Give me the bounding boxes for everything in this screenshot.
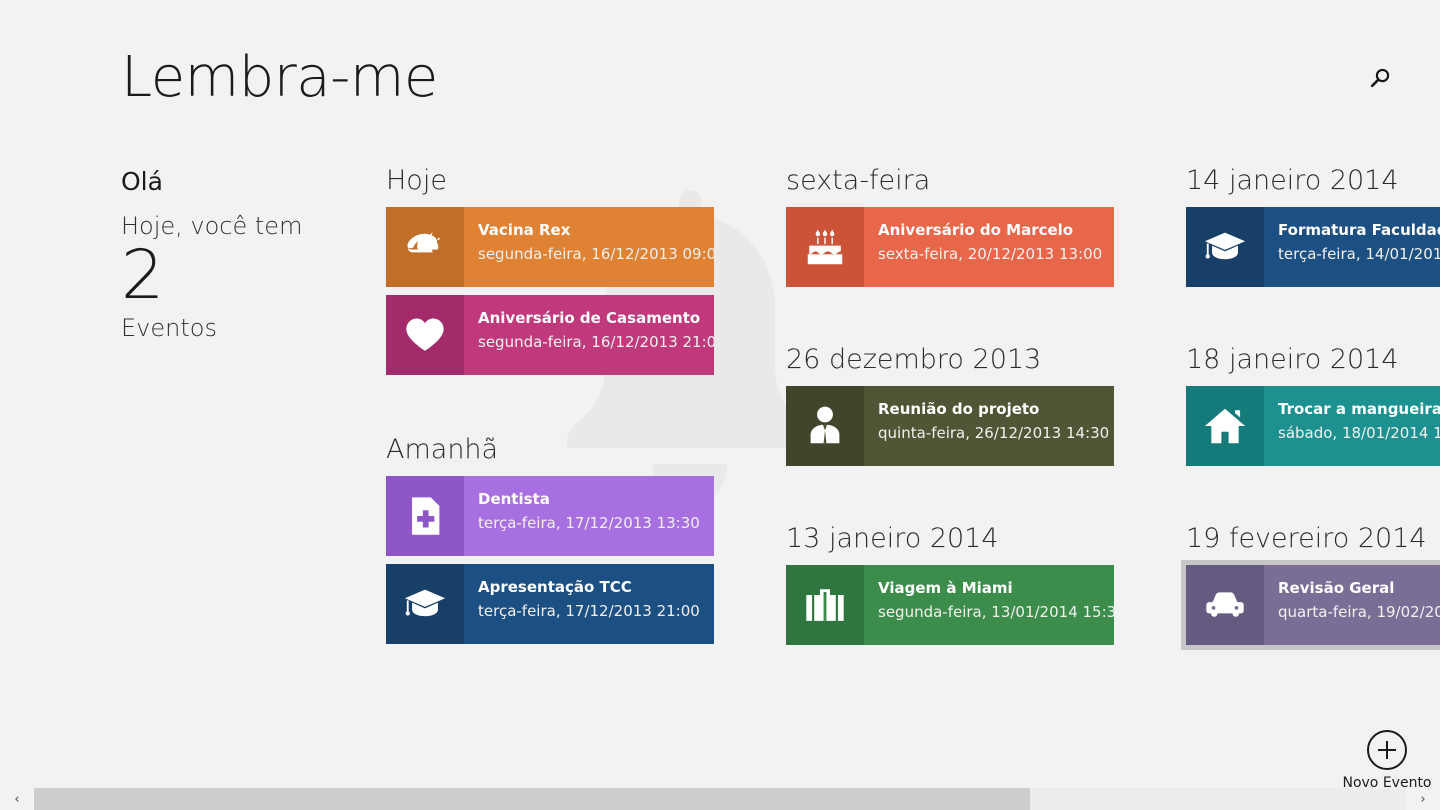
event-count: 2 <box>121 244 361 309</box>
event-tile[interactable]: Aniversário de Casamentosegunda-feira, 1… <box>386 295 714 375</box>
event-title: Dentista <box>478 489 714 509</box>
scrollbar-track[interactable] <box>34 788 1406 810</box>
search-icon[interactable] <box>1360 58 1400 98</box>
event-datetime: terça-feira, 17/12/2013 21:00 <box>478 601 714 621</box>
house-icon <box>1186 386 1264 466</box>
event-datetime: terça-feira, 17/12/2013 13:30 <box>478 513 714 533</box>
app-root: Lembra-me Olá Hoje, você tem 2 Eventos H… <box>0 0 1440 810</box>
event-tile[interactable]: Viagem à Miamisegunda-feira, 13/01/2014 … <box>786 565 1114 645</box>
event-title: Vacina Rex <box>478 220 714 240</box>
app-header: Lembra-me <box>0 0 1440 150</box>
event-title: Trocar a mangueira do gás <box>1278 399 1440 419</box>
event-tile[interactable]: Vacina Rexsegunda-feira, 16/12/2013 09:0… <box>386 207 714 287</box>
event-group: 14 janeiro 2014Formatura Faculdadeterça-… <box>1186 166 1440 295</box>
event-tile-body: Reunião do projetoquinta-feira, 26/12/20… <box>864 386 1114 466</box>
event-group: AmanhãDentistaterça-feira, 17/12/2013 13… <box>386 435 716 652</box>
event-tile-body: Viagem à Miamisegunda-feira, 13/01/2014 … <box>864 565 1114 645</box>
group-heading: 14 janeiro 2014 <box>1186 166 1440 196</box>
event-tile-body: Aniversário do Marcelosexta-feira, 20/12… <box>864 207 1114 287</box>
event-title: Aniversário do Marcelo <box>878 220 1114 240</box>
event-title: Revisão Geral <box>1278 578 1440 598</box>
scroll-left-arrow[interactable]: ‹ <box>0 788 34 810</box>
business-person-icon <box>786 386 864 466</box>
greeting-text: Olá <box>121 168 361 197</box>
event-tile-body: Apresentação TCCterça-feira, 17/12/2013 … <box>464 564 714 644</box>
new-event-button[interactable]: Novo Evento <box>1341 730 1433 791</box>
event-tile-body: Trocar a mangueira do gássábado, 18/01/2… <box>1264 386 1440 466</box>
event-group: 26 dezembro 2013Reunião do projetoquinta… <box>786 345 1116 474</box>
group-heading: 19 fevereiro 2014 <box>1186 524 1440 554</box>
event-title: Reunião do projeto <box>878 399 1114 419</box>
event-datetime: segunda-feira, 13/01/2014 15:30 <box>878 602 1114 622</box>
event-tile[interactable]: Trocar a mangueira do gássábado, 18/01/2… <box>1186 386 1440 466</box>
event-groups: HojeVacina Rexsegunda-feira, 16/12/2013 … <box>386 166 1440 786</box>
group-heading: 26 dezembro 2013 <box>786 345 1116 375</box>
event-group: sexta-feiraAniversário do Marcelosexta-f… <box>786 166 1116 295</box>
graduation-cap-icon <box>386 564 464 644</box>
group-heading: 18 janeiro 2014 <box>1186 345 1440 375</box>
event-tile[interactable]: Revisão Geralquarta-feira, 19/02/2014 09… <box>1186 565 1440 645</box>
event-tile[interactable]: Formatura Faculdadeterça-feira, 14/01/20… <box>1186 207 1440 287</box>
event-tile-body: Aniversário de Casamentosegunda-feira, 1… <box>464 295 714 375</box>
event-tile-body: Revisão Geralquarta-feira, 19/02/2014 09… <box>1264 565 1440 645</box>
event-datetime: terça-feira, 14/01/2014 19:00 <box>1278 244 1440 264</box>
event-tile-body: Formatura Faculdadeterça-feira, 14/01/20… <box>1264 207 1440 287</box>
event-datetime: quinta-feira, 26/12/2013 14:30 <box>878 423 1114 443</box>
summary-pane: Olá Hoje, você tem 2 Eventos <box>121 168 361 343</box>
event-group: HojeVacina Rexsegunda-feira, 16/12/2013 … <box>386 166 716 383</box>
medical-document-icon <box>386 476 464 556</box>
event-group: 19 fevereiro 2014Revisão Geralquarta-fei… <box>1186 524 1440 653</box>
group-heading: Hoje <box>386 166 716 196</box>
event-title: Viagem à Miami <box>878 578 1114 598</box>
event-datetime: segunda-feira, 16/12/2013 09:00 <box>478 244 714 264</box>
event-count-unit: Eventos <box>121 315 361 343</box>
event-datetime: sexta-feira, 20/12/2013 13:00 <box>878 244 1114 264</box>
event-title: Apresentação TCC <box>478 577 714 597</box>
event-tile[interactable]: Aniversário do Marcelosexta-feira, 20/12… <box>786 207 1114 287</box>
graduation-cap-icon <box>1186 207 1264 287</box>
scroll-right-arrow[interactable]: › <box>1406 788 1440 810</box>
heart-icon <box>386 295 464 375</box>
group-heading: sexta-feira <box>786 166 1116 196</box>
event-tile[interactable]: Dentistaterça-feira, 17/12/2013 13:30 <box>386 476 714 556</box>
event-tile[interactable]: Apresentação TCCterça-feira, 17/12/2013 … <box>386 564 714 644</box>
horizontal-scrollbar[interactable]: ‹ › <box>0 788 1440 810</box>
event-datetime: sábado, 18/01/2014 11:30 <box>1278 423 1440 443</box>
pet-icon <box>386 207 464 287</box>
event-group: 13 janeiro 2014Viagem à Miamisegunda-fei… <box>786 524 1116 653</box>
group-heading: 13 janeiro 2014 <box>786 524 1116 554</box>
event-datetime: segunda-feira, 16/12/2013 21:00 <box>478 332 714 352</box>
event-title: Formatura Faculdade <box>1278 220 1440 240</box>
plus-circle-icon <box>1367 730 1407 770</box>
birthday-cake-icon <box>786 207 864 287</box>
suitcase-icon <box>786 565 864 645</box>
event-title: Aniversário de Casamento <box>478 308 714 328</box>
scrollbar-thumb[interactable] <box>34 788 1030 810</box>
event-datetime: quarta-feira, 19/02/2014 09:00 <box>1278 602 1440 622</box>
event-tile[interactable]: Reunião do projetoquinta-feira, 26/12/20… <box>786 386 1114 466</box>
event-tile-body: Vacina Rexsegunda-feira, 16/12/2013 09:0… <box>464 207 714 287</box>
event-tile-body: Dentistaterça-feira, 17/12/2013 13:30 <box>464 476 714 556</box>
group-heading: Amanhã <box>386 435 716 465</box>
page-title: Lembra-me <box>121 47 438 109</box>
car-icon <box>1186 565 1264 645</box>
event-group: 18 janeiro 2014Trocar a mangueira do gás… <box>1186 345 1440 474</box>
